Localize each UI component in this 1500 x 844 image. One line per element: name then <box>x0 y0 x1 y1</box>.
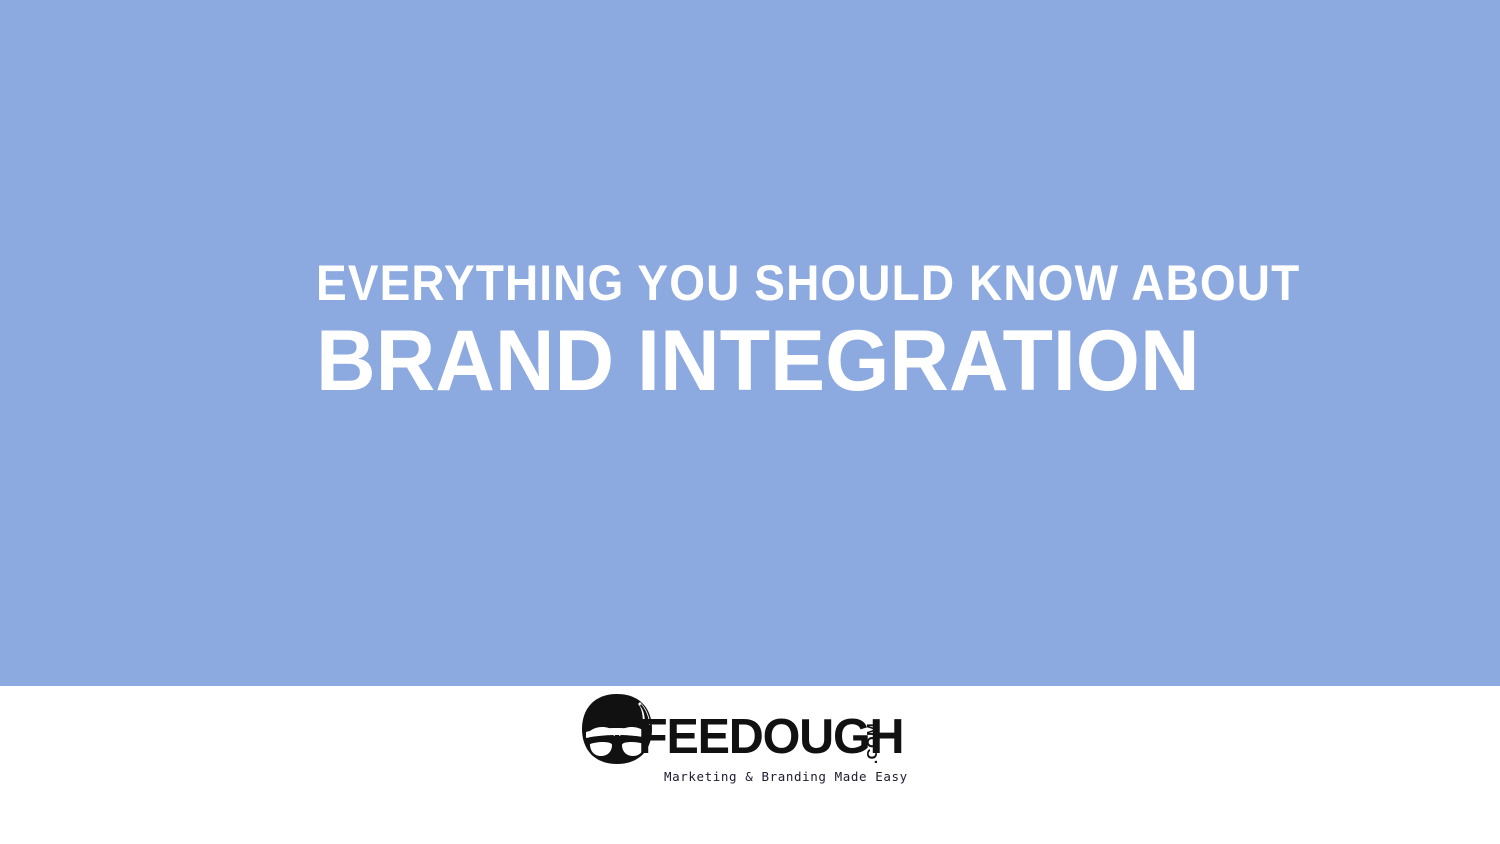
slide-eyebrow: EVERYTHING YOU SHOULD KNOW ABOUT <box>316 255 1100 311</box>
feedough-tagline: Marketing & Branding Made Easy <box>664 770 908 784</box>
feedough-tld: .COM <box>865 723 880 764</box>
slide: EVERYTHING YOU SHOULD KNOW ABOUT BRAND I… <box>0 0 1500 844</box>
slide-headline: BRAND INTEGRATION <box>316 315 1134 407</box>
footer: FEEDOUGH .COM Marketing & Branding Made … <box>0 686 1500 844</box>
hero-panel: EVERYTHING YOU SHOULD KNOW ABOUT BRAND I… <box>0 0 1500 686</box>
title-block: EVERYTHING YOU SHOULD KNOW ABOUT BRAND I… <box>316 255 1168 407</box>
logo-row: FEEDOUGH .COM <box>580 704 920 766</box>
feedough-logo: FEEDOUGH .COM Marketing & Branding Made … <box>580 704 920 796</box>
